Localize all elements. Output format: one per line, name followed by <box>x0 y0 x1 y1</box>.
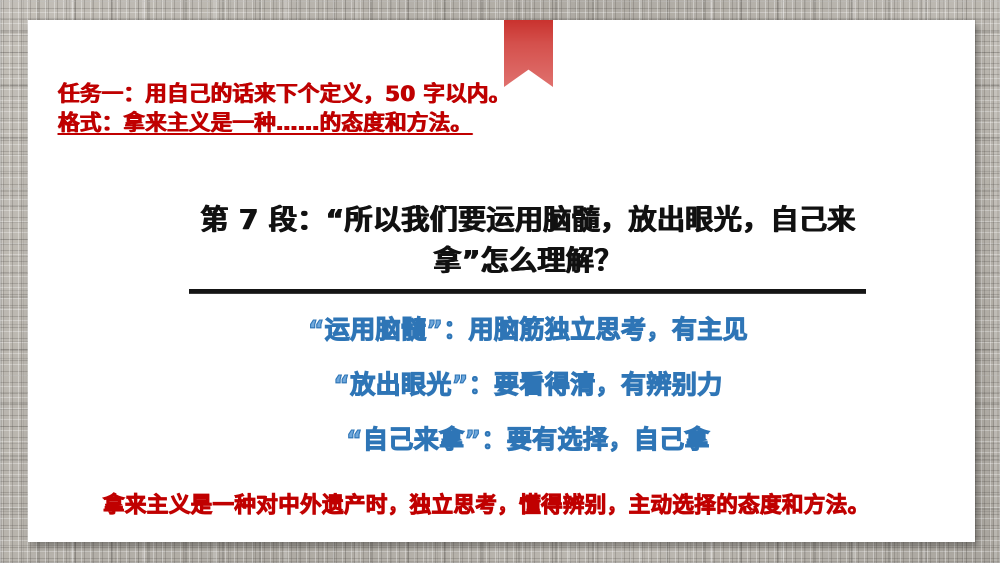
explanation-item-3: “自己来拿”：要有选择，自己拿 <box>88 427 968 452</box>
task-block: 任务一：用自己的话来下个定义，50 字以内。 格式：拿来主义是一种……的态度和方… <box>58 81 958 138</box>
task-format-line: 格式：拿来主义是一种……的态度和方法。 <box>58 110 958 139</box>
slide-root: 任务一：用自己的话来下个定义，50 字以内。 格式：拿来主义是一种……的态度和方… <box>0 0 1000 563</box>
explanation-item-1: “运用脑髓”：用脑筋独立思考，有主见 <box>88 317 968 342</box>
content-card: 任务一：用自己的话来下个定义，50 字以内。 格式：拿来主义是一种……的态度和方… <box>28 20 975 542</box>
page-title: 第 7 段：“所以我们要运用脑髓，放出眼光，自己来拿”怎么理解？ <box>188 200 868 281</box>
explanation-list: “运用脑髓”：用脑筋独立思考，有主见 “放出眼光”：要看得清，有辨别力 “自己来… <box>88 317 968 452</box>
conclusion-paragraph: 拿来主义是一种对中外遗产时，独立思考，懂得辨别，主动选择的态度和方法。 <box>103 490 948 521</box>
title-divider <box>189 289 866 294</box>
task-instruction-line: 任务一：用自己的话来下个定义，50 字以内。 <box>58 81 958 110</box>
ribbon-bookmark-icon <box>504 20 553 87</box>
explanation-item-2: “放出眼光”：要看得清，有辨别力 <box>88 372 968 397</box>
